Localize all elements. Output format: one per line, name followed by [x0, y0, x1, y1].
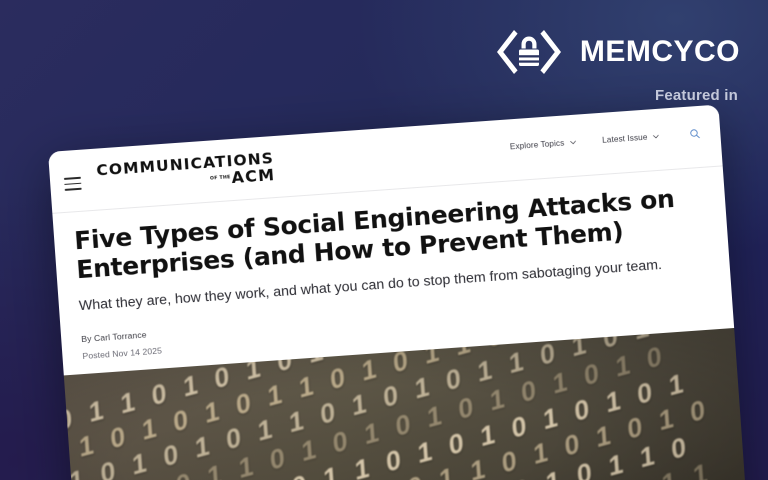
- article-card: COMMUNICATIONS OF THEACM Explore Topics …: [48, 105, 749, 480]
- chevron-down-icon: [569, 139, 576, 146]
- memcyco-brand-block: MEMCYCO Featured in: [496, 26, 740, 104]
- article-card-tilted: COMMUNICATIONS OF THEACM Explore Topics …: [48, 105, 749, 480]
- hamburger-menu-icon[interactable]: [64, 177, 82, 191]
- search-icon[interactable]: [689, 128, 701, 140]
- communications-acm-logo[interactable]: COMMUNICATIONS OF THEACM: [96, 151, 276, 197]
- nav-item-latest-issue[interactable]: Latest Issue: [602, 132, 660, 145]
- chevron-down-icon: [652, 133, 659, 140]
- site-nav: Explore Topics Latest Issue: [510, 128, 703, 153]
- promo-banner: MEMCYCO Featured in COMMUNICATIONS OF TH…: [0, 0, 768, 480]
- nav-item-latest-issue-label: Latest Issue: [602, 133, 648, 145]
- memcyco-wordmark: MEMCYCO: [580, 37, 740, 67]
- brand-logo-row: MEMCYCO: [496, 26, 740, 78]
- acm-logo-ofthe: OF THE: [210, 175, 231, 181]
- nav-item-explore-topics-label: Explore Topics: [510, 139, 565, 152]
- acm-logo-acm: ACM: [231, 165, 276, 187]
- nav-item-explore-topics[interactable]: Explore Topics: [510, 138, 577, 152]
- featured-in-label: Featured in: [655, 87, 738, 104]
- angle-bracket-lock-icon: [496, 26, 562, 78]
